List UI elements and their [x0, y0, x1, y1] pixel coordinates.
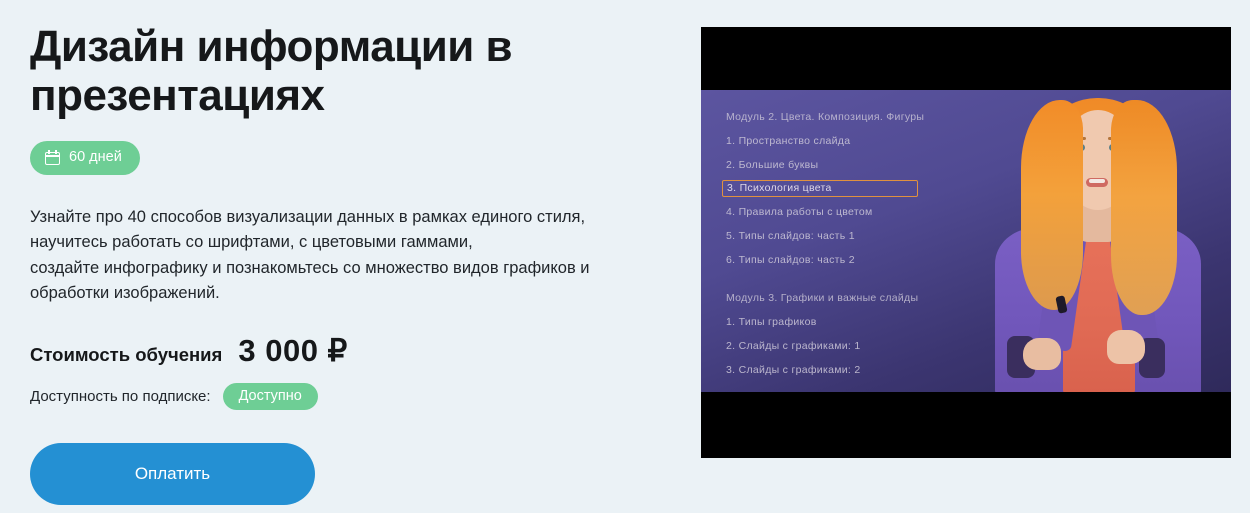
page-title: Дизайн информации в презентациях	[30, 22, 590, 121]
list-item: 6. Типы слайдов: часть 2	[722, 248, 992, 272]
duration-badge: 60 дней	[30, 141, 140, 175]
description-line: создайте инфографику и познакомьтесь со …	[30, 256, 630, 282]
list-item: 2. Большие буквы	[722, 153, 992, 177]
list-item: Модуль 3. Графики и важные слайды	[722, 286, 992, 310]
list-item: 1. Типы графиков	[722, 310, 992, 334]
course-video-player[interactable]: Модуль 2. Цвета. Композиция. Фигуры 1. П…	[701, 27, 1231, 458]
availability-label: Доступность по подписке:	[30, 388, 211, 405]
list-item: 4. Правила работы с цветом	[722, 200, 992, 224]
duration-badge-label: 60 дней	[69, 150, 122, 165]
list-item: 3. Слайды с графиками: 2	[722, 358, 992, 382]
list-item: 2. Слайды с графиками: 1	[722, 334, 992, 358]
list-spacer	[722, 272, 992, 286]
description-line: Узнайте про 40 способов визуализации дан…	[30, 205, 630, 231]
price-row: Стоимость обучения 3 000 ₽	[30, 333, 670, 369]
course-description: Узнайте про 40 способов визуализации дан…	[30, 205, 630, 307]
list-item: 1. Пространство слайда	[722, 129, 992, 153]
list-item: 5. Типы слайдов: часть 1	[722, 224, 992, 248]
pay-button[interactable]: Оплатить	[30, 443, 315, 505]
list-item-active: 3. Психология цвета	[722, 180, 918, 197]
presenter-figure	[959, 90, 1231, 392]
video-slide-frame: Модуль 2. Цвета. Композиция. Фигуры 1. П…	[701, 90, 1231, 392]
availability-row: Доступность по подписке: Доступно	[30, 383, 670, 410]
slide-module-list: Модуль 2. Цвета. Композиция. Фигуры 1. П…	[722, 105, 992, 382]
description-line: обработки изображений.	[30, 281, 630, 307]
price-label: Стоимость обучения	[30, 344, 222, 366]
status-badge: Доступно	[223, 383, 318, 410]
price-value: 3 000 ₽	[238, 333, 347, 369]
calendar-icon	[45, 150, 60, 165]
list-item: Модуль 2. Цвета. Композиция. Фигуры	[722, 105, 992, 129]
description-line: научитесь работать со шрифтами, с цветов…	[30, 230, 630, 256]
course-info-panel: Дизайн информации в презентациях 60 дней…	[30, 22, 670, 505]
